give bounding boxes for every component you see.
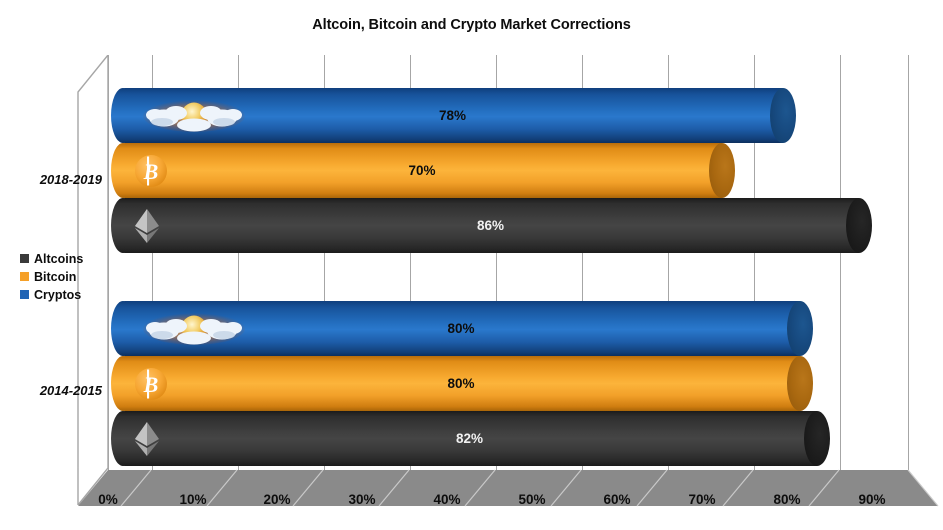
x-tick-80: 80% xyxy=(757,492,817,507)
bar-bitcoin-2014-2015[interactable]: B 80% xyxy=(122,356,813,411)
y-category-2014-2015: 2014-2015 xyxy=(6,383,102,398)
x-axis: 0% 10% 20% 30% 40% 50% 60% 70% 80% 90% xyxy=(0,492,943,516)
bar-value-label: 80% xyxy=(122,301,800,356)
bar-altcoins-2018-2019[interactable]: 86% xyxy=(122,198,872,253)
bar-bitcoin-2018-2019[interactable]: B 70% xyxy=(122,143,735,198)
x-tick-50: 50% xyxy=(502,492,562,507)
x-tick-20: 20% xyxy=(247,492,307,507)
x-tick-30: 30% xyxy=(332,492,392,507)
x-tick-60: 60% xyxy=(587,492,647,507)
x-tick-40: 40% xyxy=(417,492,477,507)
bars-layer: 78% xyxy=(0,0,943,530)
x-tick-90: 90% xyxy=(842,492,902,507)
x-tick-70: 70% xyxy=(672,492,732,507)
bar-value-label: 70% xyxy=(122,143,722,198)
legend-label-bitcoin: Bitcoin xyxy=(34,270,76,284)
legend-label-cryptos: Cryptos xyxy=(34,288,81,302)
chart-container: Altcoin, Bitcoin and Crypto Market Corre… xyxy=(0,0,943,530)
y-category-2018-2019: 2018-2019 xyxy=(6,172,102,187)
x-tick-0: 0% xyxy=(78,492,138,507)
legend-swatch-bitcoin xyxy=(20,272,29,281)
bar-value-label: 78% xyxy=(122,88,783,143)
legend-label-altcoins: Altcoins xyxy=(34,252,83,266)
bar-value-label: 86% xyxy=(122,198,859,253)
x-tick-10: 10% xyxy=(163,492,223,507)
legend-item-bitcoin[interactable]: Bitcoin xyxy=(20,268,106,285)
legend-swatch-cryptos xyxy=(20,290,29,299)
bar-cryptos-2014-2015[interactable]: 80% xyxy=(122,301,813,356)
bar-cryptos-2018-2019[interactable]: 78% xyxy=(122,88,796,143)
bar-altcoins-2014-2015[interactable]: 82% xyxy=(122,411,830,466)
legend: Altcoins Bitcoin Cryptos xyxy=(20,250,106,304)
legend-swatch-altcoins xyxy=(20,254,29,263)
legend-item-altcoins[interactable]: Altcoins xyxy=(20,250,106,267)
bar-value-label: 82% xyxy=(122,411,817,466)
legend-item-cryptos[interactable]: Cryptos xyxy=(20,286,106,303)
bar-value-label: 80% xyxy=(122,356,800,411)
